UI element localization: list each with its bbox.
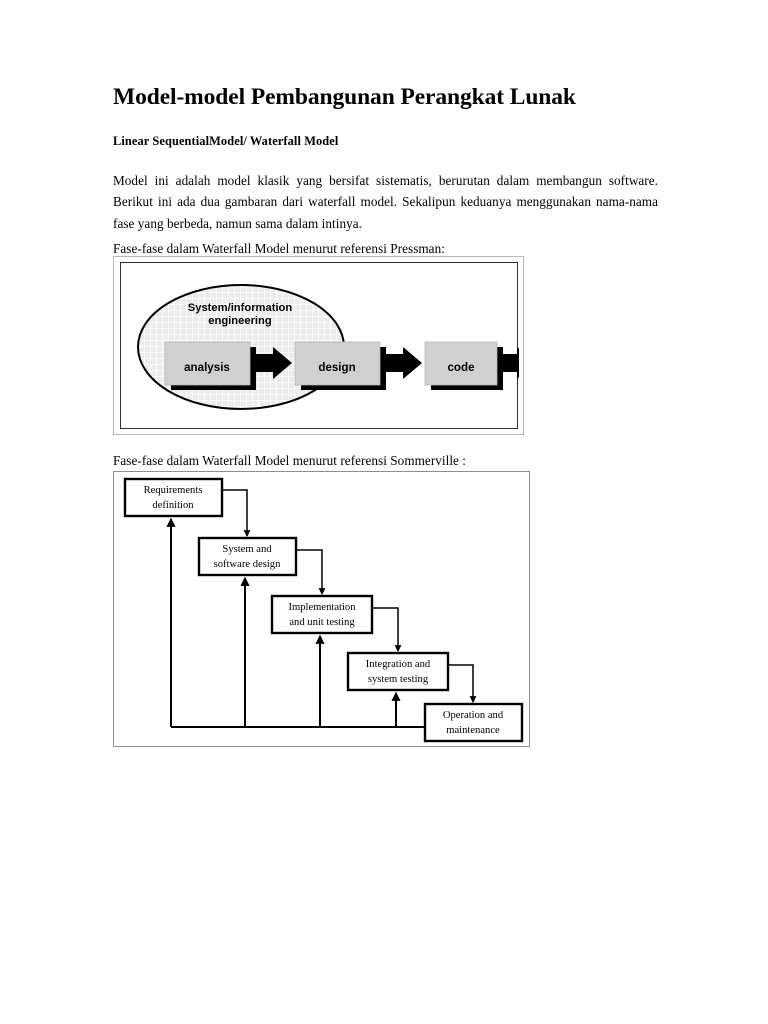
phase-box-system-software-design: System and software design xyxy=(199,538,296,575)
connector-integration-to-operation xyxy=(448,665,473,702)
figure-pressman-canvas: System/information engineering analysis … xyxy=(121,263,519,430)
ellipse-label-line2: engineering xyxy=(208,315,272,327)
intro-paragraph: Model ini adalah model klasik yang bersi… xyxy=(113,170,658,234)
phase-box-requirements-definition: Requirements definition xyxy=(125,479,222,516)
phase-box-implementation-unit-testing: Implementation and unit testing xyxy=(272,596,372,633)
stage-box-design: design xyxy=(295,342,386,390)
stage-box-analysis: analysis xyxy=(165,342,256,390)
figure-sommerville-canvas: Requirements definition System and softw… xyxy=(114,472,529,746)
phase-label-implementation-line1: Implementation xyxy=(288,602,356,613)
figure-pressman-inner-frame: System/information engineering analysis … xyxy=(120,262,518,429)
section-subheading: Linear SequentialModel/ Waterfall Model xyxy=(113,134,658,149)
phase-label-operation-line2: maintenance xyxy=(446,725,500,736)
phase-box-operation-maintenance: Operation and maintenance xyxy=(425,704,522,741)
phase-label-requirements-line2: definition xyxy=(152,500,194,511)
phase-label-design-line2: software design xyxy=(214,559,281,570)
phase-label-integration-line2: system testing xyxy=(368,674,429,685)
figure-pressman-frame: System/information engineering analysis … xyxy=(113,256,524,435)
phase-box-integration-system-testing: Integration and system testing xyxy=(348,653,448,690)
page-title: Model-model Pembangunan Perangkat Lunak xyxy=(113,84,658,111)
stage-label-design: design xyxy=(318,361,355,374)
arrow-code-to-test xyxy=(501,347,519,379)
arrow-design-to-code xyxy=(384,347,422,379)
document-text-block: Model-model Pembangunan Perangkat Lunak … xyxy=(113,84,658,234)
connector-requirements-to-design xyxy=(222,490,247,536)
stage-label-analysis: analysis xyxy=(184,361,230,374)
phase-label-requirements-line1: Requirements xyxy=(144,485,203,496)
ellipse-label-line1: System/information xyxy=(188,302,293,314)
phase-label-integration-line1: Integration and xyxy=(366,659,431,670)
phase-label-design-line1: System and xyxy=(222,544,272,555)
stage-label-code: code xyxy=(447,361,475,374)
connector-implementation-to-integration xyxy=(372,608,398,651)
stage-box-code: code xyxy=(425,342,503,390)
phase-label-operation-line1: Operation and xyxy=(443,710,504,721)
figure-pressman-caption: Fase-fase dalam Waterfall Model menurut … xyxy=(113,240,445,257)
document-page: Model-model Pembangunan Perangkat Lunak … xyxy=(0,0,768,1024)
connector-design-to-implementation xyxy=(296,550,322,594)
phase-label-implementation-line2: and unit testing xyxy=(289,617,355,628)
figure-sommerville-caption: Fase-fase dalam Waterfall Model menurut … xyxy=(113,452,466,469)
figure-sommerville-frame: Requirements definition System and softw… xyxy=(113,471,530,747)
